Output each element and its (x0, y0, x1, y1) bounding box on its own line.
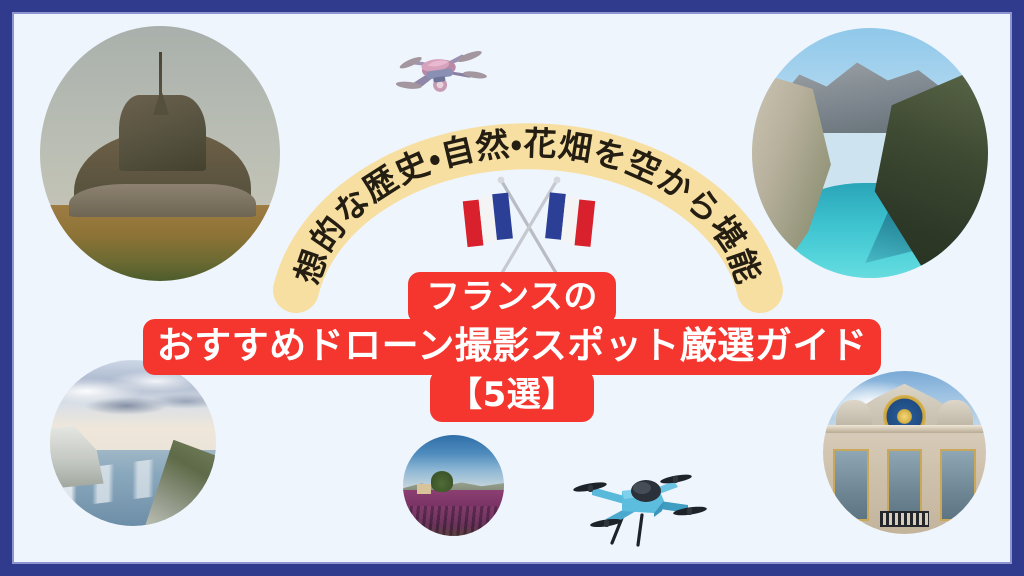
lavender-rows-layer (403, 506, 504, 536)
photo-mont-saint-michel-art (40, 26, 280, 281)
drone-bottom-icon (566, 457, 714, 547)
tree-layer (431, 471, 453, 491)
title-row-3: 【5選】 (14, 370, 1010, 422)
sky-layer (403, 435, 504, 490)
farmhouse-layer (417, 484, 431, 494)
title-line-3: 【5選】 (430, 370, 594, 422)
town-layer (69, 184, 256, 217)
cornice-layer (823, 425, 986, 433)
photo-lavender-field-art (403, 435, 504, 536)
title-line-1: フランスの (408, 272, 616, 324)
window-layer (940, 449, 976, 521)
balustrade-layer (880, 511, 929, 527)
thumbnail-canvas: 幻想的な歴史・自然・花畑を空から堪能！ (0, 0, 1024, 576)
title-row-2: おすすめドローン撮影スポット厳選ガイド (14, 319, 1010, 375)
photo-lavender-field (403, 435, 504, 536)
photo-mont-saint-michel (40, 26, 280, 281)
photo-verdon-gorge (752, 28, 988, 278)
content-panel: 幻想的な歴史・自然・花畑を空から堪能！ (14, 14, 1010, 562)
flag-left (462, 193, 513, 248)
photo-verdon-gorge-art (752, 28, 988, 278)
title-line-2: おすすめドローン撮影スポット厳選ガイド (143, 319, 882, 375)
window-layer (833, 449, 869, 521)
crossed-french-flags-icon (455, 174, 603, 284)
spire-layer (159, 52, 162, 103)
title-row-1: フランスの (14, 272, 1010, 324)
title-block: フランスの おすすめドローン撮影スポット厳選ガイド 【5選】 (14, 272, 1010, 422)
flag-right (545, 192, 596, 247)
